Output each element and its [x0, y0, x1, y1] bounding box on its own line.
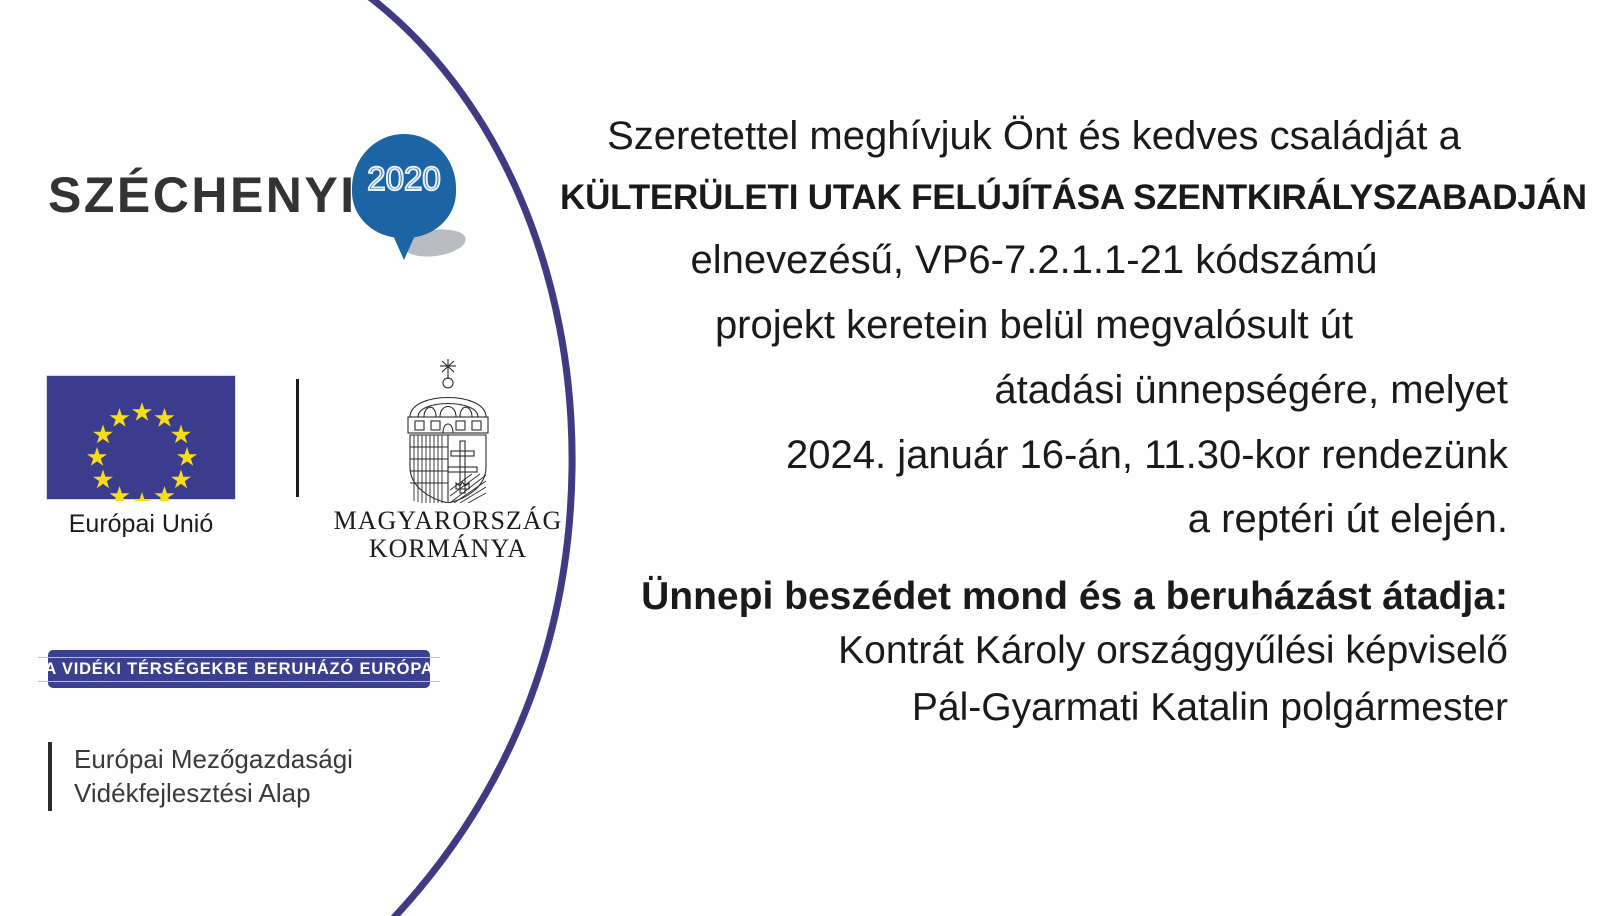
eafrd-line1: Európai Mezőgazdasági	[74, 742, 353, 776]
invitation-poster: SZÉCHENYI 2020	[0, 0, 1600, 916]
logo-divider	[296, 379, 299, 497]
pin-year-label: 2020	[354, 160, 454, 198]
hungarian-coat-of-arms-icon	[388, 355, 508, 503]
rural-europe-banner-text: A VIDÉKI TÉRSÉGEKBE BERUHÁZÓ EURÓPA	[44, 660, 433, 679]
european-union-logo: Európai Unió	[46, 375, 242, 539]
invitation-body-line-4: 2024. január 16-án, 11.30-kor rendezünk	[560, 423, 1508, 488]
project-title: KÜLTERÜLETI UTAK FELÚJÍTÁSA SZENTKIRÁLYS…	[560, 168, 1508, 228]
invitation-body-line-3: átadási ünnepségére, melyet	[560, 358, 1508, 423]
invitation-intro: Szeretettel meghívjuk Önt és kedves csal…	[560, 104, 1508, 168]
szechenyi-2020-logo: SZÉCHENYI 2020	[48, 132, 468, 292]
szechenyi-wordmark: SZÉCHENYI	[48, 166, 357, 224]
map-pin-icon: 2020	[346, 132, 476, 282]
speaker-1: Kontrát Károly országgyűlési képviselő	[560, 623, 1508, 680]
rural-europe-banner-frame: A VIDÉKI TÉRSÉGEKBE BERUHÁZÓ EURÓPA	[38, 657, 439, 682]
eu-hungary-logo-row: Európai Unió	[46, 355, 526, 575]
invitation-body-line-1: elnevezésű, VP6-7.2.1.1-21 kódszámú	[560, 228, 1508, 293]
rural-europe-banner: A VIDÉKI TÉRSÉGEKBE BERUHÁZÓ EURÓPA	[48, 650, 430, 688]
invitation-text-block: Szeretettel meghívjuk Önt és kedves csal…	[560, 104, 1508, 736]
eu-caption: Európai Unió	[46, 510, 236, 539]
eu-flag-icon	[46, 375, 236, 500]
speaker-2: Pál-Gyarmati Katalin polgármester	[560, 680, 1508, 737]
hungary-government-logo: MAGYARORSZÁG KORMÁNYA	[328, 355, 568, 563]
hungary-caption-line1: MAGYARORSZÁG	[328, 507, 568, 535]
eafrd-line2: Vidékfejlesztési Alap	[74, 776, 353, 810]
invitation-body-line-5: a reptéri út elején.	[560, 487, 1508, 552]
eafrd-caption: Európai Mezőgazdasági Vidékfejlesztési A…	[48, 742, 353, 811]
hungary-caption-line2: KORMÁNYA	[328, 535, 568, 563]
speech-heading: Ünnepi beszédet mond és a beruházást áta…	[560, 570, 1508, 623]
logo-column: SZÉCHENYI 2020	[0, 0, 540, 916]
invitation-body-line-2: projekt keretein belül megvalósult út	[560, 293, 1508, 358]
